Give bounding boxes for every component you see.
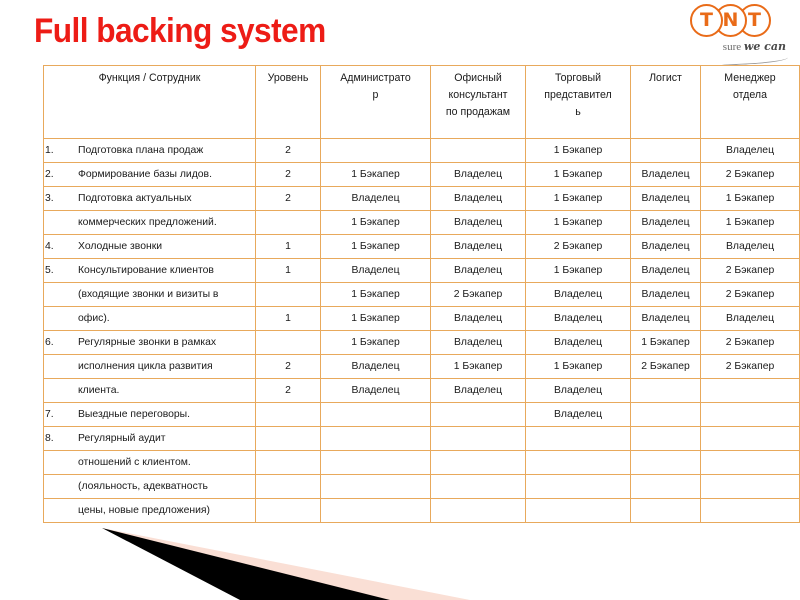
cell-administrator-value: 1 Бэкапер: [321, 307, 430, 330]
cell-department-manager: 2 Бэкапер: [701, 331, 800, 355]
cell-sales-rep: 1 Бэкапер: [526, 355, 631, 379]
logo-rings: T N T: [690, 4, 790, 38]
table-row: 4.Холодные звонки11 БэкаперВладелец2 Бэк…: [44, 235, 800, 259]
cell-department-manager: [701, 475, 800, 499]
cell-administrator: 1 Бэкапер: [321, 211, 431, 235]
cell-administrator: 1 Бэкапер: [321, 235, 431, 259]
table-row: отношений с клиентом.: [44, 451, 800, 475]
cell-administrator: [321, 427, 431, 451]
function-label: исполнения цикла развития: [78, 355, 255, 378]
cell-logistician-value: Владелец: [631, 235, 700, 258]
cell-office-consultant-value: Владелец: [431, 187, 525, 210]
cell-level: 2: [256, 355, 321, 379]
cell-sales-rep-value: Владелец: [526, 307, 630, 330]
cell-function: 2.Формирование базы лидов.: [44, 163, 256, 187]
row-number: 7.: [44, 403, 78, 426]
cell-office-consultant: [431, 139, 526, 163]
cell-office-consultant: 1 Бэкапер: [431, 355, 526, 379]
cell-level-value: 2: [256, 355, 320, 378]
cell-office-consultant: Владелец: [431, 211, 526, 235]
cell-department-manager-value: 2 Бэкапер: [701, 355, 799, 378]
cell-sales-rep: [526, 451, 631, 475]
column-header-sales-rep: Торговый представител ь: [526, 66, 631, 139]
cell-sales-rep: 1 Бэкапер: [526, 259, 631, 283]
cell-administrator: 1 Бэкапер: [321, 163, 431, 187]
cell-logistician-value: Владелец: [631, 187, 700, 210]
cell-level: [256, 451, 321, 475]
cell-function: 3.Подготовка актуальных: [44, 187, 256, 211]
cell-office-consultant: Владелец: [431, 259, 526, 283]
cell-office-consultant-value: Владелец: [431, 379, 525, 402]
cell-sales-rep: [526, 499, 631, 523]
function-label: Подготовка актуальных: [78, 187, 255, 210]
cell-level: [256, 403, 321, 427]
cell-department-manager: [701, 403, 800, 427]
column-header-level: Уровень: [256, 66, 321, 139]
cell-logistician: Владелец: [631, 259, 701, 283]
cell-office-consultant: [431, 499, 526, 523]
cell-level-value: 2: [256, 139, 320, 162]
table-row: (входящие звонки и визиты в1 Бэкапер2 Бэ…: [44, 283, 800, 307]
cell-sales-rep: Владелец: [526, 379, 631, 403]
header-line: отдела: [701, 87, 799, 104]
cell-department-manager: 1 Бэкапер: [701, 187, 800, 211]
cell-administrator-value: Владелец: [321, 379, 430, 402]
cell-office-consultant: Владелец: [431, 235, 526, 259]
cell-function: (лояльность, адекватность: [44, 475, 256, 499]
cell-administrator: [321, 451, 431, 475]
cell-department-manager-value: Владелец: [701, 307, 799, 330]
wedge-light-shape: [102, 528, 470, 600]
cell-office-consultant: [431, 427, 526, 451]
cell-office-consultant: Владелец: [431, 163, 526, 187]
cell-level: [256, 331, 321, 355]
page-title: Full backing system: [34, 8, 326, 54]
cell-office-consultant-value: Владелец: [431, 163, 525, 186]
cell-sales-rep-value: 1 Бэкапер: [526, 259, 630, 282]
function-label: (лояльность, адекватность: [78, 475, 255, 498]
cell-department-manager: [701, 379, 800, 403]
cell-logistician: [631, 451, 701, 475]
header-line: Уровень: [256, 70, 320, 87]
cell-logistician: Владелец: [631, 211, 701, 235]
cell-sales-rep-value: 1 Бэкапер: [526, 163, 630, 186]
header-line: по продажам: [431, 104, 525, 121]
cell-department-manager: 2 Бэкапер: [701, 163, 800, 187]
cell-department-manager-value: 1 Бэкапер: [701, 187, 799, 210]
cell-sales-rep-value: 1 Бэкапер: [526, 211, 630, 234]
cell-logistician: [631, 139, 701, 163]
function-label: Формирование базы лидов.: [78, 163, 255, 186]
cell-sales-rep: 1 Бэкапер: [526, 211, 631, 235]
column-header-function: Функция / Сотрудник: [44, 66, 256, 139]
cell-office-consultant: [431, 475, 526, 499]
cell-department-manager: 2 Бэкапер: [701, 283, 800, 307]
cell-function: 7.Выездные переговоры.: [44, 403, 256, 427]
cell-office-consultant-value: Владелец: [431, 235, 525, 258]
cell-function: (входящие звонки и визиты в: [44, 283, 256, 307]
function-label: цены, новые предложения): [78, 499, 255, 522]
cell-logistician: 2 Бэкапер: [631, 355, 701, 379]
logo-swoosh-icon: [722, 54, 788, 65]
cell-logistician: [631, 427, 701, 451]
logo-tagline: sure we can: [688, 40, 792, 53]
cell-department-manager-value: 2 Бэкапер: [701, 259, 799, 282]
cell-sales-rep-value: Владелец: [526, 403, 630, 426]
cell-logistician: Владелец: [631, 283, 701, 307]
cell-logistician-value: 1 Бэкапер: [631, 331, 700, 354]
cell-logistician-value: Владелец: [631, 283, 700, 306]
cell-logistician: Владелец: [631, 235, 701, 259]
cell-department-manager: Владелец: [701, 139, 800, 163]
cell-logistician: [631, 499, 701, 523]
cell-administrator: 1 Бэкапер: [321, 307, 431, 331]
cell-administrator-value: 1 Бэкапер: [321, 283, 430, 306]
cell-office-consultant: Владелец: [431, 379, 526, 403]
cell-function: клиента.: [44, 379, 256, 403]
cell-logistician: [631, 379, 701, 403]
cell-administrator: 1 Бэкапер: [321, 283, 431, 307]
row-number: 1.: [44, 139, 78, 162]
header-line: Администрато: [321, 70, 430, 87]
cell-office-consultant: Владелец: [431, 187, 526, 211]
cell-department-manager-value: Владелец: [701, 139, 799, 162]
cell-level: 1: [256, 259, 321, 283]
cell-department-manager: 2 Бэкапер: [701, 259, 800, 283]
header-line: ь: [526, 104, 630, 121]
cell-administrator: Владелец: [321, 259, 431, 283]
table-row: 6.Регулярные звонки в рамках1 БэкаперВла…: [44, 331, 800, 355]
cell-office-consultant-value: Владелец: [431, 259, 525, 282]
cell-department-manager-value: 2 Бэкапер: [701, 163, 799, 186]
tnt-logo: T N T sure we can: [688, 4, 792, 62]
table-row: (лояльность, адекватность: [44, 475, 800, 499]
cell-level-value: 2: [256, 163, 320, 186]
cell-sales-rep-value: 2 Бэкапер: [526, 235, 630, 258]
function-label: коммерческих предложений.: [78, 211, 255, 234]
function-label: Выездные переговоры.: [78, 403, 255, 426]
cell-level: [256, 211, 321, 235]
row-number: 8.: [44, 427, 78, 450]
cell-function: коммерческих предложений.: [44, 211, 256, 235]
cell-level-value: 2: [256, 187, 320, 210]
table-row: 5.Консультирование клиентов1ВладелецВлад…: [44, 259, 800, 283]
cell-sales-rep: Владелец: [526, 307, 631, 331]
cell-level: 2: [256, 379, 321, 403]
logo-tagline-script: we can: [744, 40, 786, 53]
table-row: клиента.2ВладелецВладелецВладелец: [44, 379, 800, 403]
cell-sales-rep: [526, 427, 631, 451]
cell-department-manager-value: 2 Бэкапер: [701, 283, 799, 306]
table-header-row: Функция / Сотрудник Уровень Администрато…: [44, 66, 800, 139]
cell-logistician-value: 2 Бэкапер: [631, 355, 700, 378]
cell-level: 2: [256, 163, 321, 187]
function-label: Регулярные звонки в рамках: [78, 331, 255, 354]
header-line: представител: [526, 87, 630, 104]
cell-sales-rep-value: Владелец: [526, 331, 630, 354]
header-line: Менеджер: [701, 70, 799, 87]
cell-sales-rep: 1 Бэкапер: [526, 163, 631, 187]
cell-office-consultant-value: Владелец: [431, 211, 525, 234]
cell-sales-rep: 1 Бэкапер: [526, 139, 631, 163]
column-header-logistician: Логист: [631, 66, 701, 139]
cell-sales-rep-value: 1 Бэкапер: [526, 355, 630, 378]
table-row: 7.Выездные переговоры.Владелец: [44, 403, 800, 427]
cell-function: 6.Регулярные звонки в рамках: [44, 331, 256, 355]
cell-function: исполнения цикла развития: [44, 355, 256, 379]
function-label: Подготовка плана продаж: [78, 139, 255, 162]
cell-administrator: [321, 499, 431, 523]
table-row: коммерческих предложений.1 БэкаперВладел…: [44, 211, 800, 235]
cell-administrator-value: Владелец: [321, 355, 430, 378]
row-number: 2.: [44, 163, 78, 186]
cell-office-consultant-value: Владелец: [431, 307, 525, 330]
cell-sales-rep: Владелец: [526, 331, 631, 355]
logo-tagline-prefix: sure: [723, 41, 744, 53]
cell-department-manager: [701, 499, 800, 523]
cell-administrator: [321, 475, 431, 499]
cell-logistician: Владелец: [631, 187, 701, 211]
header-line: Офисный: [431, 70, 525, 87]
cell-office-consultant-value: Владелец: [431, 331, 525, 354]
cell-sales-rep: Владелец: [526, 403, 631, 427]
cell-administrator-value: Владелец: [321, 259, 430, 282]
cell-level: 1: [256, 307, 321, 331]
function-label: Консультирование клиентов: [78, 259, 255, 282]
cell-sales-rep: 1 Бэкапер: [526, 187, 631, 211]
row-number: 4.: [44, 235, 78, 258]
cell-level-value: 2: [256, 379, 320, 402]
cell-function: отношений с клиентом.: [44, 451, 256, 475]
cell-administrator: [321, 139, 431, 163]
header-line: Торговый: [526, 70, 630, 87]
cell-function: 1.Подготовка плана продаж: [44, 139, 256, 163]
cell-administrator-value: 1 Бэкапер: [321, 331, 430, 354]
cell-function: 4.Холодные звонки: [44, 235, 256, 259]
cell-sales-rep-value: 1 Бэкапер: [526, 139, 630, 162]
cell-department-manager: Владелец: [701, 235, 800, 259]
cell-level: [256, 499, 321, 523]
function-label: клиента.: [78, 379, 255, 402]
cell-office-consultant-value: 2 Бэкапер: [431, 283, 525, 306]
table-row: 1.Подготовка плана продаж21 БэкаперВладе…: [44, 139, 800, 163]
cell-level: [256, 427, 321, 451]
cell-level-value: 1: [256, 259, 320, 282]
cell-function: цены, новые предложения): [44, 499, 256, 523]
table-row: 2.Формирование базы лидов.21 БэкаперВлад…: [44, 163, 800, 187]
cell-level: 2: [256, 139, 321, 163]
cell-sales-rep-value: Владелец: [526, 379, 630, 402]
cell-level-value: 1: [256, 235, 320, 258]
cell-office-consultant: Владелец: [431, 307, 526, 331]
cell-department-manager: [701, 427, 800, 451]
function-label: Регулярный аудит: [78, 427, 255, 450]
cell-administrator-value: Владелец: [321, 187, 430, 210]
cell-function: 5.Консультирование клиентов: [44, 259, 256, 283]
row-number: 5.: [44, 259, 78, 282]
header-line: Логист: [631, 70, 700, 87]
cell-sales-rep: 2 Бэкапер: [526, 235, 631, 259]
cell-department-manager: [701, 451, 800, 475]
column-header-office-consultant: Офисный консультант по продажам: [431, 66, 526, 139]
logo-ring-t1-icon: T: [690, 4, 723, 37]
cell-logistician: Владелец: [631, 163, 701, 187]
cell-logistician-value: Владелец: [631, 307, 700, 330]
cell-level: [256, 475, 321, 499]
table-row: 3.Подготовка актуальных2ВладелецВладелец…: [44, 187, 800, 211]
cell-function: офис).: [44, 307, 256, 331]
wedge-dark-shape: [102, 528, 390, 600]
cell-department-manager: 1 Бэкапер: [701, 211, 800, 235]
cell-office-consultant: [431, 403, 526, 427]
cell-administrator: 1 Бэкапер: [321, 331, 431, 355]
table-row: 8.Регулярный аудит: [44, 427, 800, 451]
header-line: р: [321, 87, 430, 104]
cell-administrator: Владелец: [321, 355, 431, 379]
cell-logistician-value: Владелец: [631, 259, 700, 282]
cell-administrator: Владелец: [321, 187, 431, 211]
cell-administrator-value: 1 Бэкапер: [321, 163, 430, 186]
table-row: цены, новые предложения): [44, 499, 800, 523]
function-label: отношений с клиентом.: [78, 451, 255, 474]
header-line: консультант: [431, 87, 525, 104]
header-line: Функция / Сотрудник: [44, 70, 255, 87]
cell-department-manager: Владелец: [701, 307, 800, 331]
cell-sales-rep-value: 1 Бэкапер: [526, 187, 630, 210]
cell-logistician: [631, 475, 701, 499]
cell-sales-rep: [526, 475, 631, 499]
cell-function: 8.Регулярный аудит: [44, 427, 256, 451]
cell-sales-rep-value: Владелец: [526, 283, 630, 306]
bottom-decoration: [0, 525, 800, 600]
cell-office-consultant: Владелец: [431, 331, 526, 355]
function-label: Холодные звонки: [78, 235, 255, 258]
cell-level: 2: [256, 187, 321, 211]
row-number: 3.: [44, 187, 78, 210]
cell-level: 1: [256, 235, 321, 259]
table-row: офис).11 БэкаперВладелецВладелецВладелец…: [44, 307, 800, 331]
cell-department-manager-value: 1 Бэкапер: [701, 211, 799, 234]
row-number: 6.: [44, 331, 78, 354]
cell-logistician: 1 Бэкапер: [631, 331, 701, 355]
cell-logistician-value: Владелец: [631, 211, 700, 234]
cell-department-manager-value: Владелец: [701, 235, 799, 258]
function-label: офис).: [78, 307, 255, 330]
table-row: исполнения цикла развития2Владелец1 Бэка…: [44, 355, 800, 379]
cell-office-consultant-value: 1 Бэкапер: [431, 355, 525, 378]
responsibility-matrix-table: Функция / Сотрудник Уровень Администрато…: [43, 65, 800, 523]
column-header-department-manager: Менеджер отдела: [701, 66, 800, 139]
cell-sales-rep: Владелец: [526, 283, 631, 307]
cell-department-manager-value: 2 Бэкапер: [701, 331, 799, 354]
column-header-administrator: Администрато р: [321, 66, 431, 139]
cell-office-consultant: 2 Бэкапер: [431, 283, 526, 307]
cell-office-consultant: [431, 451, 526, 475]
cell-administrator: Владелец: [321, 379, 431, 403]
cell-level: [256, 283, 321, 307]
cell-level-value: 1: [256, 307, 320, 330]
function-label: (входящие звонки и визиты в: [78, 283, 255, 306]
cell-administrator-value: 1 Бэкапер: [321, 211, 430, 234]
cell-administrator: [321, 403, 431, 427]
cell-logistician: [631, 403, 701, 427]
cell-department-manager: 2 Бэкапер: [701, 355, 800, 379]
cell-administrator-value: 1 Бэкапер: [321, 235, 430, 258]
cell-logistician-value: Владелец: [631, 163, 700, 186]
cell-logistician: Владелец: [631, 307, 701, 331]
